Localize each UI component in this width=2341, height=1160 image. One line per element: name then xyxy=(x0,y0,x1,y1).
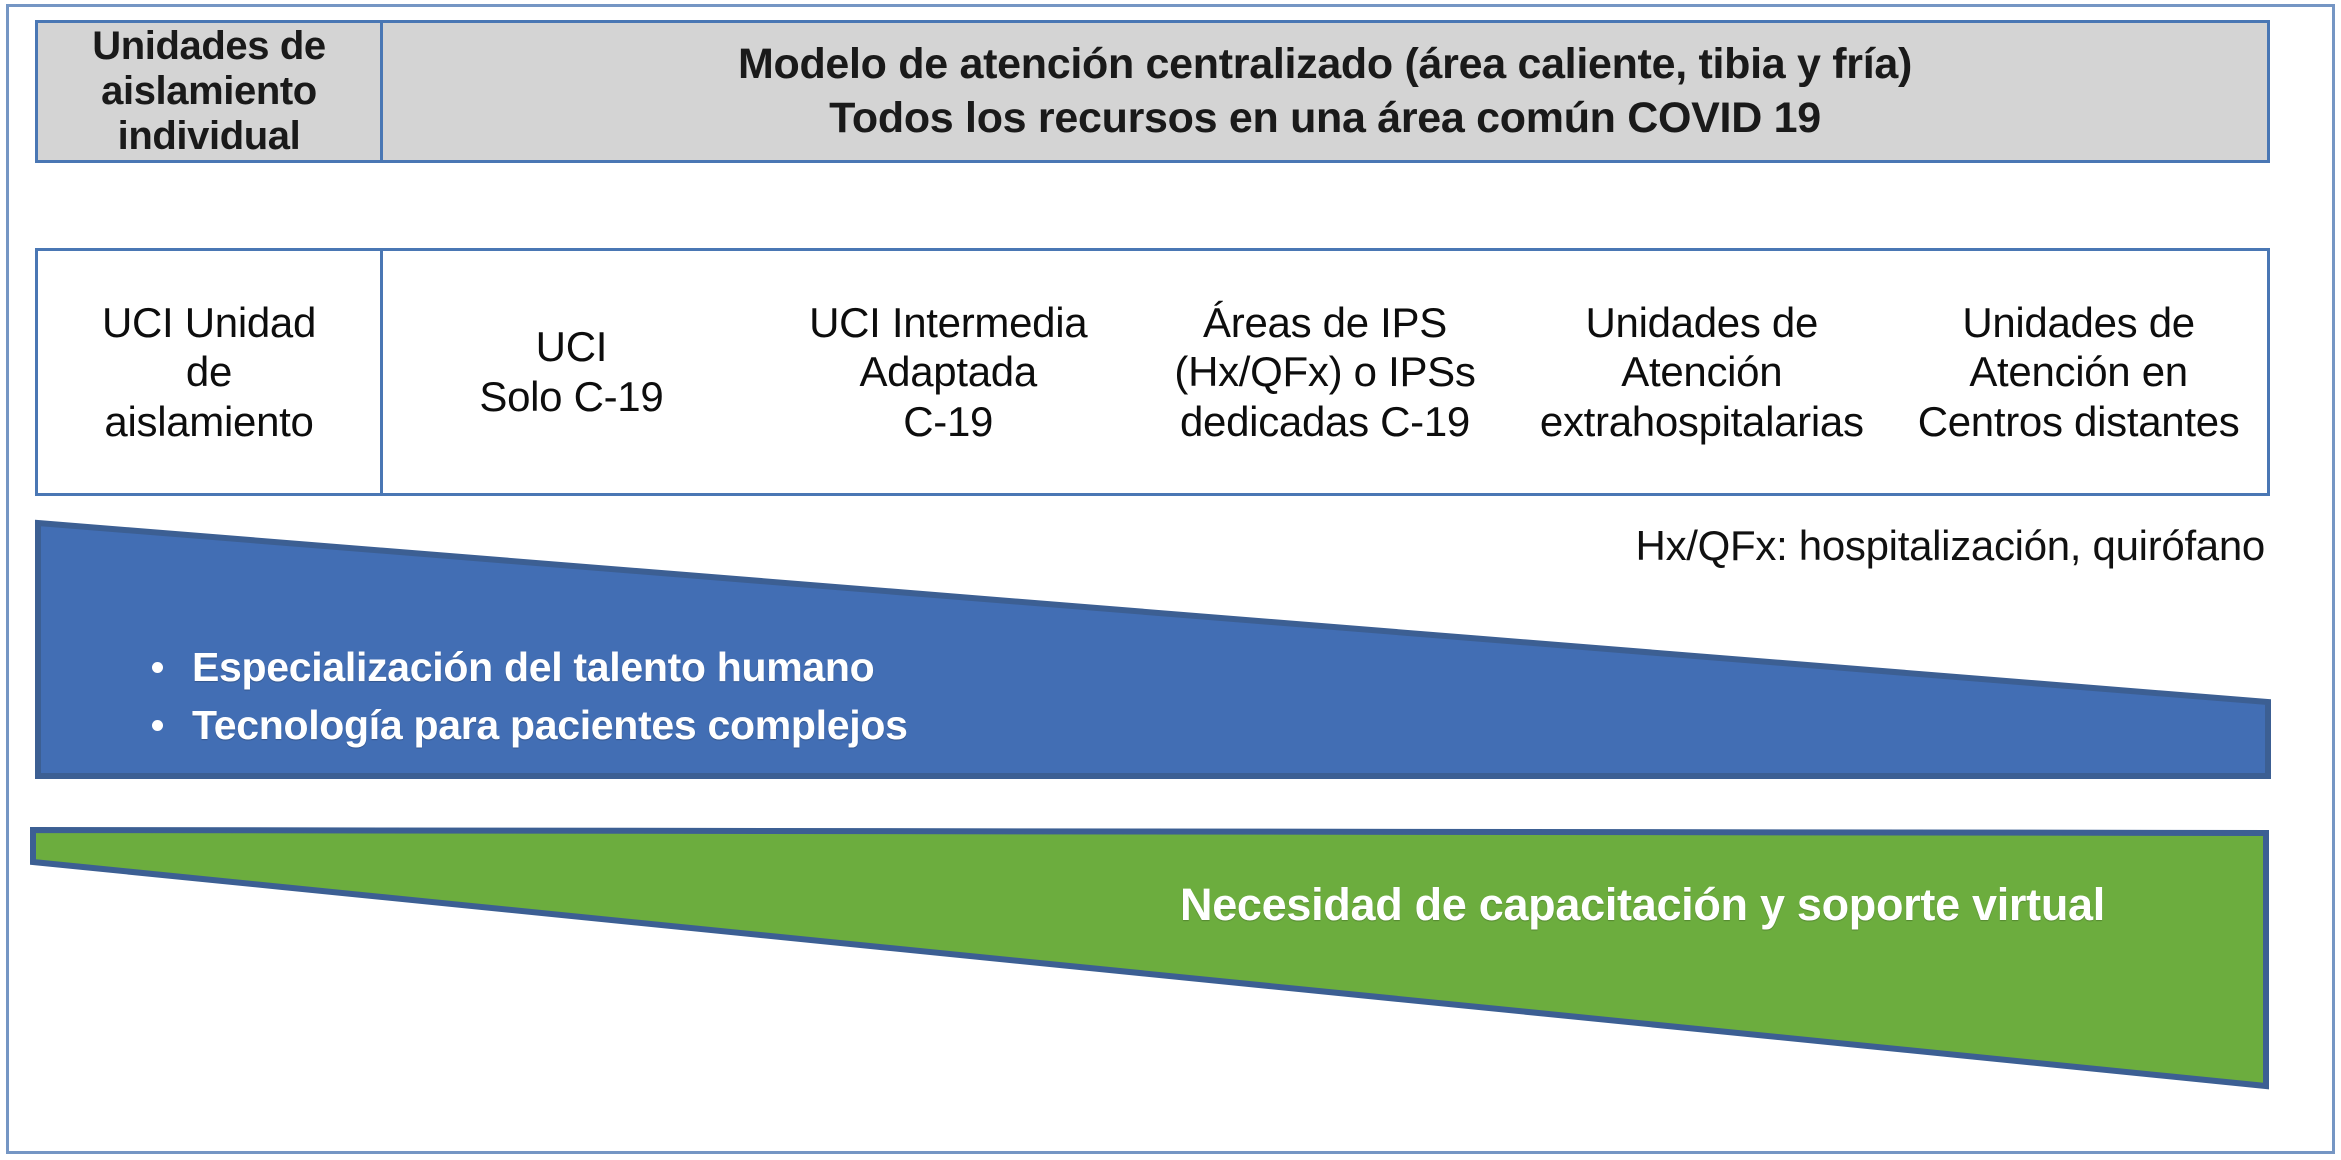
category-label: Unidades de Atención extrahospitalarias xyxy=(1540,298,1864,447)
category-label: Unidades de Atención en Centros distante… xyxy=(1918,298,2240,447)
category-cell-centros-distantes: Unidades de Atención en Centros distante… xyxy=(1890,251,2267,493)
category-cell-uci-aislamiento: UCI Unidad de aislamiento xyxy=(38,251,383,493)
category-row: UCI Unidad de aislamiento UCI Solo C-19 … xyxy=(35,248,2270,496)
category-label: UCI Intermedia Adaptada C-19 xyxy=(809,298,1087,447)
green-wedge-shape xyxy=(33,830,2266,1086)
header-cell-isolation-units: Unidades de aislamiento individual xyxy=(38,23,383,160)
header-row: Unidades de aislamiento individual Model… xyxy=(35,20,2270,163)
category-cell-uci-solo-c19: UCI Solo C-19 xyxy=(383,251,760,493)
category-cell-uci-intermedia: UCI Intermedia Adaptada C-19 xyxy=(760,251,1137,493)
header-cell-centralized-model: Modelo de atención centralizado (área ca… xyxy=(383,23,2267,160)
category-cell-areas-ips: Áreas de IPS (Hx/QFx) o IPSs dedicadas C… xyxy=(1137,251,1514,493)
category-label: UCI Solo C-19 xyxy=(479,322,663,421)
wedge-shapes xyxy=(0,0,2341,1160)
blue-wedge-bullets: Especialización del talento humano Tecno… xyxy=(150,638,908,754)
green-wedge-label: Necesidad de capacitación y soporte virt… xyxy=(1180,878,2105,932)
header-left-label: Unidades de aislamiento individual xyxy=(92,24,325,158)
slide-frame xyxy=(6,4,2335,1154)
blue-wedge-bullet-item: Tecnología para pacientes complejos xyxy=(192,696,908,754)
category-label: Áreas de IPS (Hx/QFx) o IPSs dedicadas C… xyxy=(1174,298,1475,447)
header-right-label: Modelo de atención centralizado (área ca… xyxy=(738,38,1912,146)
blue-wedge-bullet-item: Especialización del talento humano xyxy=(192,638,908,696)
figure-root: Unidades de aislamiento individual Model… xyxy=(0,0,2341,1160)
legend-note-hx-qfx: Hx/QFx: hospitalización, quirófano xyxy=(1545,522,2265,570)
category-cell-extrahospitalarias: Unidades de Atención extrahospitalarias xyxy=(1513,251,1890,493)
category-label: UCI Unidad de aislamiento xyxy=(102,298,316,447)
